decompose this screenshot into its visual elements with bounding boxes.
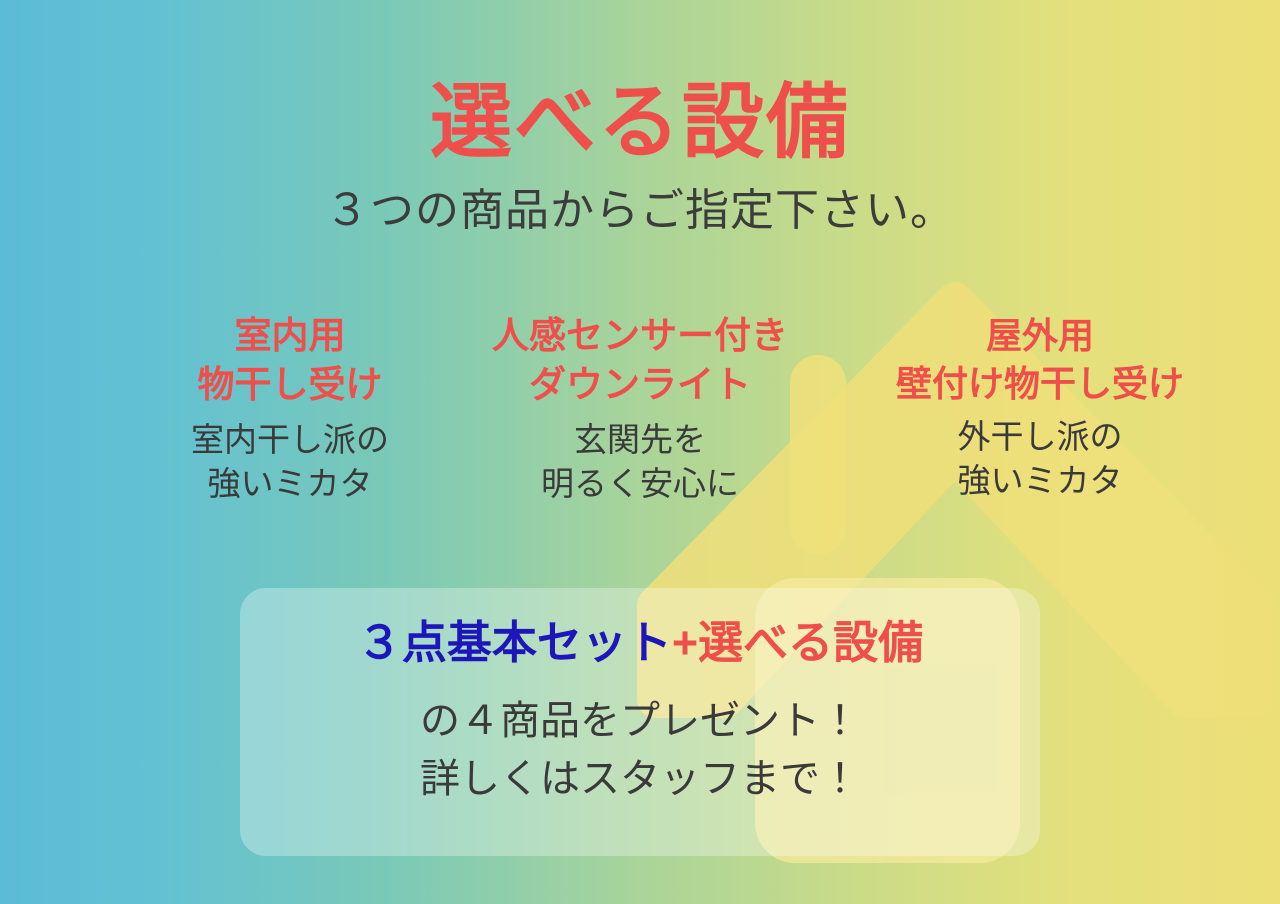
- option-name-line1: 人感センサー付き: [460, 312, 820, 361]
- option-description: 玄関先を 明るく安心に: [460, 418, 820, 506]
- option-description: 外干し派の 強いミカタ: [840, 415, 1240, 503]
- offer-headline-selectable-equipment: 選べる設備: [698, 617, 923, 668]
- offer-detail-text: の４商品をプレゼント！ 詳しくはスタッフまで！: [240, 692, 1040, 808]
- option-card-motion-sensor-downlight[interactable]: 人感センサー付き ダウンライト 玄関先を 明るく安心に: [460, 312, 820, 505]
- page-title: 選べる設備: [0, 78, 1280, 168]
- option-desc-line2: 明るく安心に: [460, 462, 820, 506]
- option-name-line2: ダウンライト: [460, 361, 820, 410]
- option-name-line2: 物干し受け: [140, 361, 440, 410]
- header-block: 選べる設備 ３つの商品からご指定下さい。: [0, 78, 1280, 237]
- option-card-outdoor-wall-dryer-hanger[interactable]: 屋外用 壁付け物干し受け 外干し派の 強いミカタ: [840, 312, 1240, 503]
- option-name-line2: 壁付け物干し受け: [840, 360, 1240, 408]
- option-name-line1: 室内用: [140, 312, 440, 361]
- offer-headline-plus-sign: +: [672, 617, 698, 668]
- option-desc-line2: 強いミカタ: [140, 462, 440, 506]
- option-name: 人感センサー付き ダウンライト: [460, 312, 820, 410]
- offer-headline-base-set: ３点基本セット: [357, 617, 672, 668]
- offer-line-1: の４商品をプレゼント！: [240, 692, 1040, 750]
- promo-poster: 選べる設備 ３つの商品からご指定下さい。 室内用 物干し受け 室内干し派の 強い…: [0, 0, 1280, 904]
- offer-line-2: 詳しくはスタッフまで！: [240, 750, 1040, 808]
- option-name: 室内用 物干し受け: [140, 312, 440, 410]
- option-desc-line1: 室内干し派の: [140, 418, 440, 462]
- options-row: 室内用 物干し受け 室内干し派の 強いミカタ 人感センサー付き ダウンライト 玄…: [140, 312, 1240, 505]
- offer-headline: ３点基本セット+選べる設備: [240, 618, 1040, 668]
- option-desc-line1: 外干し派の: [840, 415, 1240, 459]
- option-card-indoor-dryer-hanger[interactable]: 室内用 物干し受け 室内干し派の 強いミカタ: [140, 312, 440, 505]
- option-name: 屋外用 壁付け物干し受け: [840, 312, 1240, 407]
- offer-panel: ３点基本セット+選べる設備 の４商品をプレゼント！ 詳しくはスタッフまで！: [240, 588, 1040, 856]
- option-name-line1: 屋外用: [840, 312, 1240, 360]
- page-subtitle: ３つの商品からご指定下さい。: [0, 186, 1280, 237]
- option-desc-line1: 玄関先を: [460, 418, 820, 462]
- option-desc-line2: 強いミカタ: [840, 459, 1240, 503]
- option-description: 室内干し派の 強いミカタ: [140, 418, 440, 506]
